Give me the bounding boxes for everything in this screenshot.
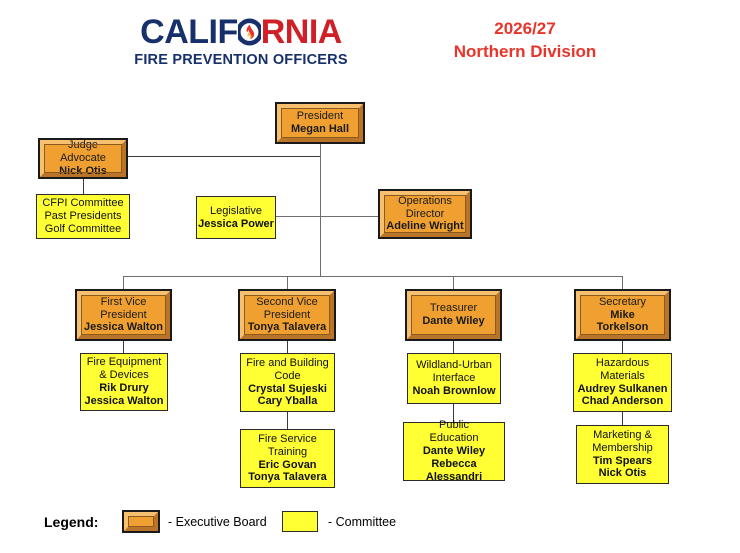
node-fire-equipment-line-2: & Devices [99, 369, 149, 382]
connector-second-vp-to-committee [287, 340, 288, 353]
node-public-education-name-1: Dante Wiley [423, 445, 485, 458]
legend-swatch-executive [123, 511, 159, 532]
connector-president-stem [320, 143, 321, 276]
node-legislative-name: Jessica Power [198, 218, 274, 231]
node-president-role: President [297, 110, 343, 123]
title-year: 2026/27 [430, 18, 620, 41]
node-treasurer-role: Treasurer [430, 302, 477, 315]
node-president[interactable]: President Megan Hall [276, 103, 364, 143]
node-first-vp-line-2: President [100, 309, 146, 322]
legend-text-executive: - Executive Board [168, 515, 267, 529]
node-fire-building-line-1: Fire and Building [246, 357, 329, 370]
connector-bus-to-secretary [622, 276, 623, 290]
cfpo-logo: CALIF RNIA FIRE PREVENTION OFFICERS [118, 12, 364, 70]
connector-secretary-to-committee [622, 340, 623, 353]
connector-bus-to-treasurer [453, 276, 454, 290]
connector-officers-bus [123, 276, 623, 277]
node-president-name: Megan Hall [291, 123, 349, 136]
node-wildland-urban-interface[interactable]: Wildland-Urban Interface Noah Brownlow [407, 353, 501, 404]
node-judge-advocate-name: Nick Otis [59, 165, 107, 178]
node-hazmat-line-1: Hazardous [596, 357, 649, 370]
node-marketing-membership[interactable]: Marketing & Membership Tim Spears Nick O… [576, 425, 669, 484]
connector-bus-to-first-vp [123, 276, 124, 290]
logo-text-calif: CALIF [140, 15, 238, 49]
node-secretary-role: Secretary [599, 296, 646, 309]
node-judge-advocate[interactable]: Judge Advocate Nick Otis [39, 139, 127, 178]
connector-treasurer-to-committee [453, 340, 454, 353]
node-public-education[interactable]: Public Education Dante Wiley Rebecca Ale… [403, 422, 505, 481]
node-fire-service-line-2: Training [268, 446, 307, 459]
legend-label: Legend: [44, 514, 98, 530]
node-wildland-line-1: Wildland-Urban [416, 359, 492, 372]
node-secretary-name-1: Mike [610, 309, 634, 322]
node-second-vp-line-2: President [264, 309, 310, 322]
node-public-education-line-1: Public [439, 419, 469, 432]
node-treasurer[interactable]: Treasurer Dante Wiley [406, 290, 501, 340]
node-second-vp-line-1: Second Vice [256, 296, 318, 309]
node-wildland-line-2: Interface [433, 372, 476, 385]
node-second-vp-name: Tonya Talavera [248, 321, 326, 334]
node-fire-service-line-1: Fire Service [258, 433, 317, 446]
node-first-vp-name: Jessica Walton [84, 321, 163, 334]
legend-text-committee: - Committee [328, 515, 396, 529]
node-cfpi-line-1: CFPI Committee [42, 197, 123, 210]
node-first-vice-president[interactable]: First Vice President Jessica Walton [76, 290, 171, 340]
node-operations-director[interactable]: Operations Director Adeline Wright [379, 190, 471, 238]
node-hazmat-name-2: Chad Anderson [582, 395, 664, 408]
node-secretary-name-2: Torkelson [597, 321, 649, 334]
node-cfpi-line-2: Past Presidents [44, 210, 121, 223]
node-legislative[interactable]: Legislative Jessica Power [196, 196, 276, 239]
connector-bus-to-second-vp [287, 276, 288, 290]
connector-fire-building-to-training [287, 412, 288, 429]
node-marketing-name-1: Tim Spears [593, 455, 652, 468]
node-fire-building-code[interactable]: Fire and Building Code Crystal Sujeski C… [240, 353, 335, 412]
node-treasurer-name: Dante Wiley [422, 315, 484, 328]
node-fire-equipment-devices[interactable]: Fire Equipment & Devices Rik Drury Jessi… [80, 353, 168, 411]
node-judge-advocate-role: Judge Advocate [44, 139, 122, 165]
node-fire-building-line-2: Code [274, 370, 300, 383]
connector-judge-advocate [124, 156, 320, 157]
logo-subtitle: FIRE PREVENTION OFFICERS [134, 52, 347, 68]
title-division: Northern Division [430, 41, 620, 64]
node-operations-name: Adeline Wright [386, 220, 463, 233]
node-hazmat-line-2: Materials [600, 370, 645, 383]
node-fire-service-name-1: Eric Govan [258, 459, 316, 472]
connector-first-vp-to-committee [123, 340, 124, 353]
logo-wordmark: CALIF RNIA [140, 15, 342, 49]
connector-judge-to-cfpi [83, 178, 84, 194]
node-marketing-line-1: Marketing & [593, 429, 652, 442]
legend-swatch-committee [282, 511, 318, 532]
node-fire-equipment-name-2: Jessica Walton [84, 395, 163, 408]
node-fire-building-name-1: Crystal Sujeski [248, 383, 327, 396]
node-hazardous-materials[interactable]: Hazardous Materials Audrey Sulkanen Chad… [573, 353, 672, 412]
flame-icon [238, 17, 261, 47]
node-fire-building-name-2: Cary Yballa [258, 395, 318, 408]
org-chart-canvas: CALIF RNIA FIRE PREVENTION OFFICERS 2026… [0, 0, 740, 553]
node-marketing-name-2: Nick Otis [599, 467, 647, 480]
node-fire-service-training[interactable]: Fire Service Training Eric Govan Tonya T… [240, 429, 335, 488]
node-secretary[interactable]: Secretary Mike Torkelson [575, 290, 670, 340]
node-fire-equipment-name-1: Rik Drury [99, 382, 149, 395]
node-hazmat-name-1: Audrey Sulkanen [578, 383, 668, 396]
node-wildland-name: Noah Brownlow [412, 385, 495, 398]
node-cfpi-line-3: Golf Committee [45, 223, 121, 236]
connector-hazmat-to-marketing [622, 412, 623, 425]
node-fire-service-name-2: Tonya Talavera [248, 471, 326, 484]
node-operations-line-1: Operations [398, 195, 452, 208]
node-fire-equipment-line-1: Fire Equipment [87, 356, 162, 369]
node-marketing-line-2: Membership [592, 442, 653, 455]
node-operations-line-2: Director [406, 208, 445, 221]
logo-text-rnia: RNIA [261, 15, 342, 49]
node-public-education-line-2: Education [430, 432, 479, 445]
node-cfpi-committee[interactable]: CFPI Committee Past Presidents Golf Comm… [36, 194, 130, 239]
node-first-vp-line-1: First Vice [101, 296, 147, 309]
node-legislative-role: Legislative [210, 205, 262, 218]
node-second-vice-president[interactable]: Second Vice President Tonya Talavera [239, 290, 335, 340]
connector-legislative-operations [275, 216, 380, 217]
node-public-education-name-2: Rebecca Alessandri [404, 458, 504, 484]
page-title: 2026/27 Northern Division [430, 18, 620, 64]
